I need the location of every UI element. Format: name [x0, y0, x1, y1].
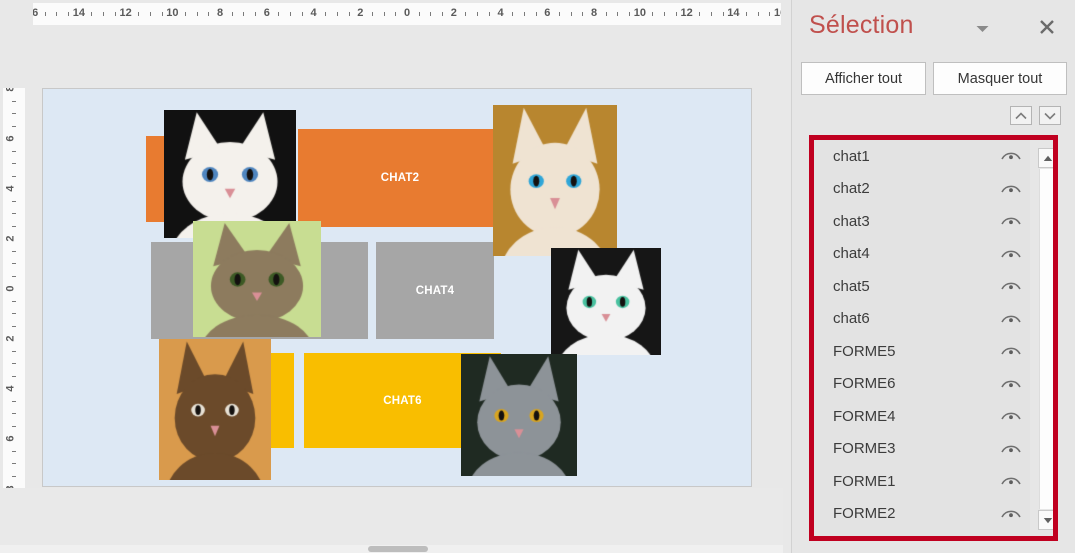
ruler-minor-tick	[12, 126, 16, 127]
shape-list-item-label: FORME2	[833, 505, 1000, 522]
ruler-minor-tick	[606, 12, 607, 16]
ruler-minor-tick	[512, 12, 513, 16]
hide-all-button[interactable]: Masquer tout	[933, 62, 1067, 95]
ruler-minor-tick	[489, 12, 490, 16]
eye-glyph	[1000, 214, 1022, 228]
ruler-tick-label: 8	[217, 8, 223, 19]
eye-glyph	[1000, 377, 1022, 391]
ruler-minor-tick	[559, 12, 560, 16]
ruler-minor-tick	[652, 12, 653, 16]
eye-icon[interactable]	[1000, 312, 1022, 326]
ruler-tick-label: 2	[357, 8, 363, 19]
ruler-minor-tick	[185, 12, 186, 16]
eye-icon[interactable]	[1000, 507, 1022, 521]
eye-glyph	[1000, 247, 1022, 261]
shape-list-item-label: FORME4	[833, 408, 1000, 425]
shape-list-item-label: FORME3	[833, 440, 1000, 457]
shape-list-item-label: FORME6	[833, 375, 1000, 392]
ruler-tick-label: 10	[166, 8, 178, 19]
scroll-up-button[interactable]	[1038, 148, 1058, 168]
ruler-minor-tick	[290, 12, 291, 16]
shape-label: CHAT6	[383, 395, 421, 407]
shape-list-item[interactable]: FORME5	[814, 335, 1030, 368]
shape-list-item[interactable]: chat2	[814, 173, 1030, 206]
pane-bottom-filler	[792, 541, 1075, 553]
shape-list-item[interactable]: FORME2	[814, 498, 1030, 531]
scroll-down-button[interactable]	[1038, 510, 1058, 530]
ruler-minor-tick	[12, 413, 16, 414]
ruler-minor-tick	[162, 12, 163, 16]
ruler-minor-tick	[12, 176, 16, 177]
ruler-minor-tick	[676, 12, 677, 16]
close-glyph	[1039, 19, 1055, 35]
pane-title: Sélection	[809, 11, 914, 40]
slide-editor-area: 1614121086420246810121416 864202468 CHAT…	[0, 0, 791, 553]
close-icon[interactable]	[1034, 14, 1060, 40]
ruler-minor-tick	[12, 326, 16, 327]
ruler-minor-tick	[232, 12, 233, 16]
shape-list-item-label: chat5	[833, 278, 1000, 295]
ruler-minor-tick	[12, 251, 16, 252]
ruler-minor-tick	[302, 12, 303, 16]
ruler-minor-tick	[711, 12, 712, 16]
ruler-tick-label: 6	[264, 8, 270, 19]
ruler-minor-tick	[769, 12, 770, 16]
powerpoint-window: 1614121086420246810121416 864202468 CHAT…	[0, 0, 1075, 553]
triangle-down-glyph	[1043, 517, 1053, 524]
triangle-up-glyph	[1043, 155, 1053, 162]
eye-glyph	[1000, 279, 1022, 293]
shape-list[interactable]: chat1chat2chat3chat4chat5chat6FORME5FORM…	[814, 140, 1030, 536]
eye-icon[interactable]	[1000, 182, 1022, 196]
ruler-minor-tick	[12, 201, 16, 202]
horizontal-scrollbar[interactable]	[0, 545, 791, 553]
ruler-minor-tick	[56, 12, 57, 16]
reorder-down-button[interactable]	[1039, 106, 1061, 125]
eye-glyph	[1000, 442, 1022, 456]
shape-list-item[interactable]: chat3	[814, 205, 1030, 238]
photo-bitmap	[493, 105, 617, 256]
shape-list-item-label: FORME1	[833, 473, 1000, 490]
ruler-minor-tick	[115, 12, 116, 16]
ruler-minor-tick	[45, 12, 46, 16]
editor-right-edge	[783, 0, 791, 553]
ruler-minor-tick	[12, 476, 16, 477]
photo-bitmap	[461, 354, 577, 476]
ruler-minor-tick	[12, 463, 16, 464]
ruler-tick-label: 4	[6, 385, 17, 391]
ruler-minor-tick	[12, 263, 16, 264]
shape-list-item-label: chat4	[833, 245, 1000, 262]
ruler-minor-tick	[477, 12, 478, 16]
ruler-minor-tick	[12, 351, 16, 352]
ruler-minor-tick	[524, 12, 525, 16]
slide-shape-forme4[interactable]: CHAT4	[376, 242, 494, 339]
ruler-minor-tick	[12, 113, 16, 114]
ruler-minor-tick	[278, 12, 279, 16]
shape-list-item-label: chat1	[833, 148, 1000, 165]
ruler-tick-label: 4	[311, 8, 317, 19]
horizontal-ruler[interactable]: 1614121086420246810121416	[33, 3, 781, 25]
ruler-tick-label: 0	[6, 285, 17, 291]
ruler-minor-tick	[395, 12, 396, 16]
slide-shape-forme2[interactable]: CHAT2	[298, 129, 502, 227]
ruler-minor-tick	[465, 12, 466, 16]
shape-list-item[interactable]: chat4	[814, 238, 1030, 271]
ruler-minor-tick	[384, 12, 385, 16]
ruler-minor-tick	[12, 363, 16, 364]
ruler-minor-tick	[243, 12, 244, 16]
ruler-tick-label: 10	[634, 8, 646, 19]
ruler-tick-label: 8	[6, 88, 17, 92]
ruler-minor-tick	[12, 376, 16, 377]
photo-bitmap	[159, 339, 271, 480]
ruler-minor-tick	[419, 12, 420, 16]
ruler-minor-tick	[758, 12, 759, 16]
shape-list-item-label: chat2	[833, 180, 1000, 197]
ruler-tick-label: 12	[120, 8, 132, 19]
ruler-tick-label: 6	[6, 435, 17, 441]
ruler-minor-tick	[442, 12, 443, 16]
ruler-tick-label: 8	[591, 8, 597, 19]
list-scrollbar-track[interactable]	[1039, 169, 1057, 509]
eye-icon[interactable]	[1000, 442, 1022, 456]
ruler-tick-label: 0	[404, 8, 410, 19]
shape-list-item-label: chat3	[833, 213, 1000, 230]
eye-glyph	[1000, 149, 1022, 163]
shape-list-item[interactable]: chat6	[814, 303, 1030, 336]
vertical-ruler[interactable]: 864202468	[3, 88, 25, 488]
eye-icon[interactable]	[1000, 149, 1022, 163]
eye-icon[interactable]	[1000, 279, 1022, 293]
ruler-tick-label: 4	[498, 8, 504, 19]
ruler-minor-tick	[571, 12, 572, 16]
shape-label: CHAT4	[416, 285, 454, 297]
eye-glyph	[1000, 344, 1022, 358]
shape-list-item[interactable]: chat1	[814, 140, 1030, 173]
ruler-minor-tick	[12, 101, 16, 102]
photo-bitmap	[193, 221, 321, 337]
chevron-down-glyph	[976, 25, 989, 33]
slide-photo-chat4[interactable]	[551, 248, 661, 355]
eye-icon[interactable]	[1000, 247, 1022, 261]
ruler-tick-label: 14	[73, 8, 85, 19]
ruler-tick-label: 2	[6, 335, 17, 341]
shape-label: CHAT2	[381, 172, 419, 184]
ruler-tick-label: 12	[681, 8, 693, 19]
ruler-minor-tick	[372, 12, 373, 16]
ruler-minor-tick	[12, 401, 16, 402]
ruler-tick-label: 16	[33, 8, 38, 19]
ruler-minor-tick	[12, 426, 16, 427]
ruler-minor-tick	[536, 12, 537, 16]
shape-list-item[interactable]: chat5	[814, 270, 1030, 303]
selection-pane: Sélection Afficher tout Masquer tout cha…	[791, 0, 1075, 553]
photo-bitmap	[551, 248, 661, 355]
eye-glyph	[1000, 409, 1022, 423]
ruler-minor-tick	[349, 12, 350, 16]
eye-glyph	[1000, 182, 1022, 196]
show-all-button[interactable]: Afficher tout	[801, 62, 926, 95]
horizontal-scrollbar-thumb[interactable]	[368, 546, 428, 552]
ruler-minor-tick	[337, 12, 338, 16]
reorder-up-button[interactable]	[1010, 106, 1032, 125]
ruler-minor-tick	[699, 12, 700, 16]
ruler-minor-tick	[325, 12, 326, 16]
eye-icon[interactable]	[1000, 377, 1022, 391]
ruler-minor-tick	[430, 12, 431, 16]
ruler-minor-tick	[208, 12, 209, 16]
eye-glyph	[1000, 507, 1022, 521]
chevron-down-glyph	[1044, 112, 1056, 120]
ruler-minor-tick	[582, 12, 583, 16]
eye-icon[interactable]	[1000, 214, 1022, 228]
shape-list-item[interactable]: FORME6	[814, 368, 1030, 401]
slide-photo-chat6[interactable]	[461, 354, 577, 476]
shape-list-item[interactable]: FORME1	[814, 465, 1030, 498]
chevron-up-glyph	[1015, 112, 1027, 120]
ruler-minor-tick	[746, 12, 747, 16]
ruler-minor-tick	[629, 12, 630, 16]
eye-glyph	[1000, 474, 1022, 488]
chevron-down-icon[interactable]	[970, 18, 994, 40]
ruler-tick-label: 2	[6, 235, 17, 241]
ruler-tick-label: 6	[544, 8, 550, 19]
ruler-minor-tick	[150, 12, 151, 16]
ruler-tick-label: 2	[451, 8, 457, 19]
ruler-minor-tick	[12, 313, 16, 314]
ruler-minor-tick	[12, 301, 16, 302]
ruler-minor-tick	[138, 12, 139, 16]
shape-list-item[interactable]: FORME4	[814, 400, 1030, 433]
ruler-minor-tick	[255, 12, 256, 16]
ruler-tick-label: 4	[6, 185, 17, 191]
slide-canvas[interactable]: CHAT1CHAT2CHAT3CHAT4CHAT5CHAT6	[42, 88, 752, 487]
eye-icon[interactable]	[1000, 344, 1022, 358]
slide-photo-chat1[interactable]	[164, 110, 296, 238]
ruler-tick-label: 6	[6, 135, 17, 141]
ruler-minor-tick	[12, 276, 16, 277]
eye-icon[interactable]	[1000, 409, 1022, 423]
ruler-minor-tick	[12, 226, 16, 227]
photo-bitmap	[164, 110, 296, 238]
ruler-minor-tick	[12, 151, 16, 152]
ruler-minor-tick	[91, 12, 92, 16]
slide-photo-chat3[interactable]	[193, 221, 321, 337]
ruler-minor-tick	[197, 12, 198, 16]
ruler-minor-tick	[617, 12, 618, 16]
shape-list-item[interactable]: FORME3	[814, 433, 1030, 466]
ruler-minor-tick	[12, 451, 16, 452]
ruler-minor-tick	[723, 12, 724, 16]
ruler-minor-tick	[68, 12, 69, 16]
ruler-minor-tick	[103, 12, 104, 16]
ruler-minor-tick	[664, 12, 665, 16]
eye-glyph	[1000, 312, 1022, 326]
ruler-tick-label: 14	[727, 8, 739, 19]
slide-photo-chat2[interactable]	[493, 105, 617, 256]
eye-icon[interactable]	[1000, 474, 1022, 488]
ruler-minor-tick	[12, 163, 16, 164]
ruler-minor-tick	[12, 213, 16, 214]
shape-list-item-label: chat6	[833, 310, 1000, 327]
ruler-tick-label: 16	[774, 8, 781, 19]
slide-photo-chat5[interactable]	[159, 339, 271, 480]
workspace-below-slide	[0, 488, 791, 553]
shape-list-item-label: FORME5	[833, 343, 1000, 360]
